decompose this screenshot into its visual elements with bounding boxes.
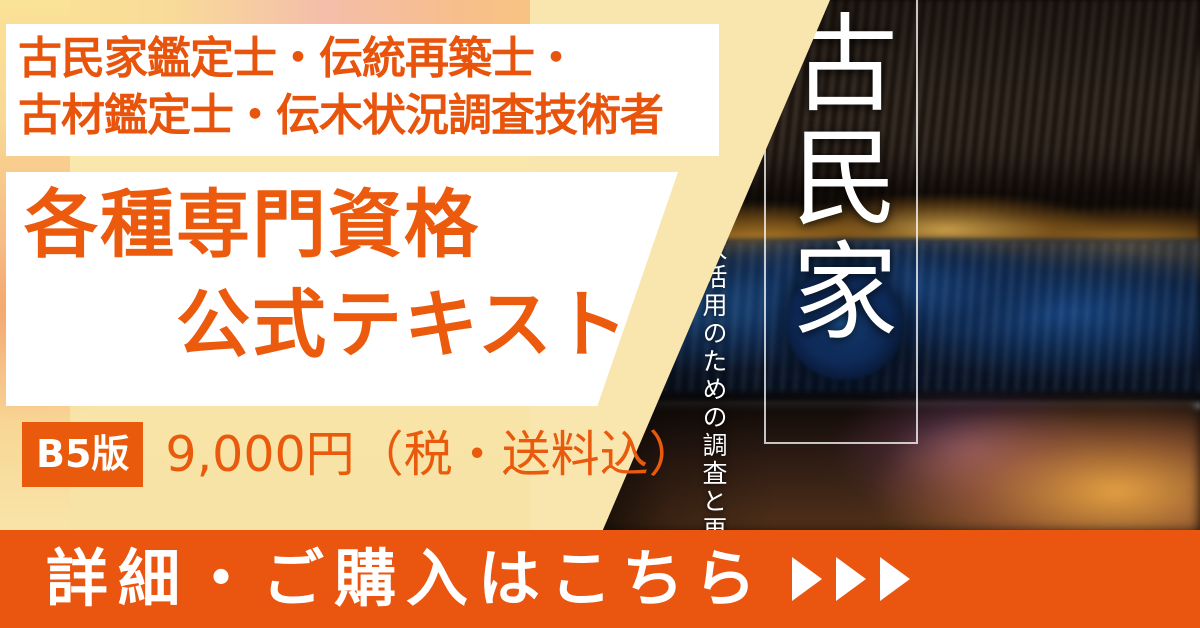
main-title-line-2: 公式テキスト bbox=[176, 288, 630, 362]
promo-banner: 伝統構法 古民家活用のための調査と再生の 古民家 古民家鑑定士・伝統再築士・ 古… bbox=[0, 0, 1200, 628]
cover-main-title: 古民家 bbox=[790, 8, 900, 350]
triangle-right-icon bbox=[836, 557, 866, 601]
headline-line-1: 古民家鑑定士・伝統再築士・ bbox=[18, 30, 718, 87]
main-title-line-1: 各種専門資格 bbox=[24, 188, 480, 262]
triangle-right-icon bbox=[880, 557, 910, 601]
headline-line-2: 古材鑑定士・伝木状況調査技術者 bbox=[18, 87, 718, 144]
price-text: 9,000円（税・送料込） bbox=[165, 430, 697, 479]
cta-bar[interactable]: 詳細・ご購入はこちら bbox=[0, 530, 1200, 628]
triangle-right-icon bbox=[792, 557, 822, 601]
cta-label: 詳細・ご購入はこちら bbox=[46, 548, 766, 610]
format-badge: B5版 bbox=[22, 422, 143, 487]
cta-arrow-group bbox=[792, 557, 910, 601]
price-row: B5版 9,000円（税・送料込） bbox=[22, 422, 698, 486]
headline-text: 古民家鑑定士・伝統再築士・ 古材鑑定士・伝木状況調査技術者 bbox=[18, 30, 718, 144]
